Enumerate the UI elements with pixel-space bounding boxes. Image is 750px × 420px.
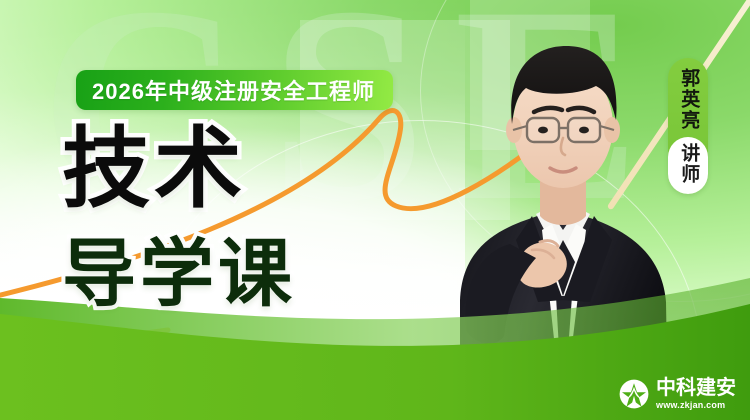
instructor-name: 郭英亮 (677, 66, 699, 137)
course-poster: CSE CSE (0, 0, 750, 420)
poster-headline-group: 技术 导学课 (62, 125, 296, 311)
course-exam-badge-label: 2026年中级注册安全工程师 (92, 74, 375, 106)
course-exam-badge: 2026年中级注册安全工程师 (76, 70, 393, 110)
instructor-badge: 郭英亮 讲师 (668, 58, 708, 194)
instructor-role: 讲师 (677, 143, 699, 185)
brand-text-group: 中科建安 www.zkjan.com (656, 378, 736, 410)
page-title: 技术 (62, 125, 296, 213)
brand-url: www.zkjan.com (656, 401, 736, 410)
page-subtitle: 导学课 (62, 237, 296, 311)
instructor-role-pill: 讲师 (668, 137, 708, 194)
zkjan-circle-star-logo-icon (619, 379, 649, 409)
brand-name: 中科建安 (656, 378, 736, 398)
brand-logo: 中科建安 www.zkjan.com (619, 378, 736, 410)
